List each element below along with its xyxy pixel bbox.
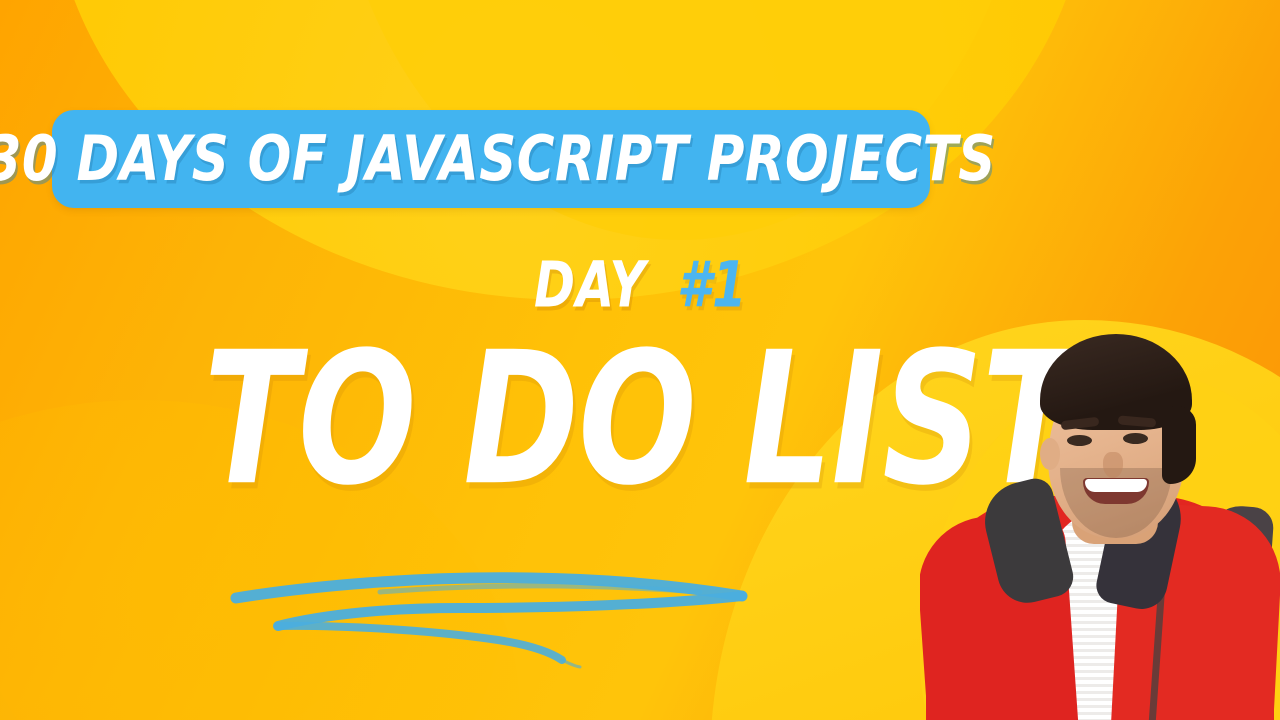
series-banner: 30 DAYS OF JAVASCRIPT PROJECTS bbox=[52, 110, 930, 208]
presenter-hair-side bbox=[1162, 406, 1196, 484]
day-label: DAY bbox=[534, 254, 646, 317]
presenter-mouth bbox=[1083, 478, 1149, 504]
youtube-thumbnail: 30 DAYS OF JAVASCRIPT PROJECTS DAY #1 TO… bbox=[0, 0, 1280, 720]
presenter-teeth bbox=[1085, 479, 1147, 492]
series-banner-text: 30 DAYS OF JAVASCRIPT PROJECTS bbox=[0, 128, 996, 191]
presenter-eye-left bbox=[1067, 435, 1092, 446]
presenter-ear bbox=[1040, 438, 1060, 470]
presenter-nose bbox=[1103, 452, 1123, 478]
presenter-photo bbox=[920, 280, 1280, 720]
day-number: #1 bbox=[677, 254, 748, 317]
underline-scribble bbox=[230, 556, 775, 676]
presenter-eye-right bbox=[1123, 433, 1148, 444]
scribble-icon bbox=[230, 556, 775, 676]
